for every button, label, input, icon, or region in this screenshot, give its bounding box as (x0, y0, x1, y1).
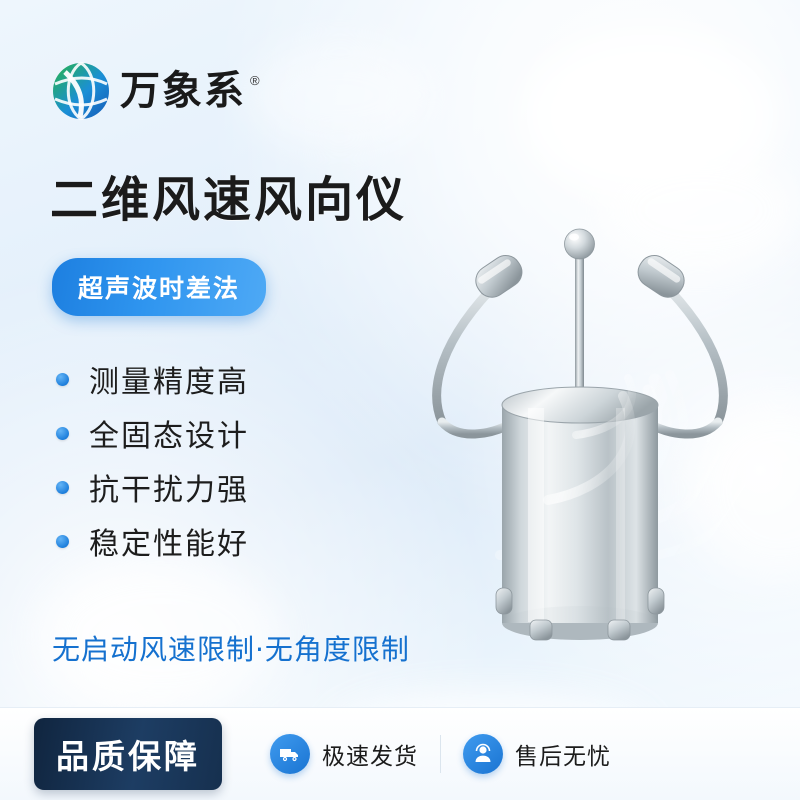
feature-label: 测量精度高 (89, 357, 249, 401)
service-list: 极速发货 售后无忧 (248, 734, 633, 774)
service-item-aftersales: 售后无忧 (441, 734, 633, 774)
brand-name: 万象系 (120, 71, 246, 111)
quality-chip: 品质保障 (34, 718, 222, 790)
page-title: 二维风速风向仪 (50, 160, 407, 230)
service-item-shipping: 极速发货 (248, 734, 440, 774)
feature-label: 稳定性能好 (89, 519, 249, 563)
headset-agent-icon (463, 734, 503, 774)
feature-list: 测量精度高 全固态设计 抗干扰力强 稳定性能好 (56, 352, 249, 568)
subline-text: 无启动风速限制·无角度限制 (52, 628, 410, 668)
list-item: 抗干扰力强 (56, 460, 249, 514)
transducer-left (470, 250, 528, 303)
poster-canvas: 万象系 ® 二维风速风向仪 超声波时差法 测量精度高 全固态设计 抗干扰力强 稳… (0, 0, 800, 800)
list-item: 全固态设计 (56, 406, 249, 460)
globe-swirl-icon (50, 60, 112, 122)
service-label: 售后无忧 (515, 737, 611, 771)
list-item: 测量精度高 (56, 352, 249, 406)
bottom-bar: 品质保障 极速发货 (0, 707, 800, 800)
feature-label: 全固态设计 (89, 411, 249, 455)
top-sphere (565, 229, 595, 259)
list-item: 稳定性能好 (56, 514, 249, 568)
registered-mark: ® (250, 73, 260, 88)
product-image (380, 200, 780, 670)
brand-logo: 万象系 ® (50, 58, 350, 124)
service-label: 极速发货 (322, 737, 418, 771)
feature-label: 抗干扰力强 (89, 465, 249, 509)
truck-icon (270, 734, 310, 774)
sensor-arm-left (437, 280, 500, 422)
bullet-dot-icon (56, 481, 69, 494)
sensor-arm-right (660, 280, 723, 422)
bullet-dot-icon (56, 427, 69, 440)
bullet-dot-icon (56, 535, 69, 548)
method-badge: 超声波时差法 (52, 258, 266, 316)
bullet-dot-icon (56, 373, 69, 386)
transducer-right (632, 250, 690, 303)
